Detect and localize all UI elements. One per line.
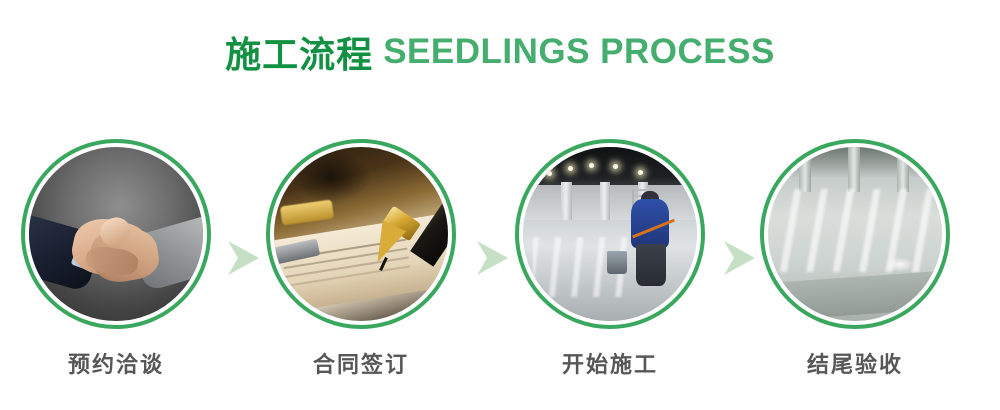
warehouse-wall	[523, 185, 697, 223]
pen-background-blur	[291, 150, 371, 202]
step-2-circle[interactable]	[266, 139, 456, 329]
floor-highlight	[886, 257, 914, 273]
process-step-1[interactable]: 预约洽谈	[21, 139, 211, 376]
arrow-step-2-to-3-icon	[475, 239, 509, 277]
step-4-circle[interactable]	[760, 139, 950, 329]
page-title: 施工流程SEEDLINGS PROCESS	[0, 26, 1000, 78]
process-step-2[interactable]: 合同签订	[266, 139, 456, 376]
step-2-image	[274, 147, 448, 321]
step-1-image	[29, 147, 203, 321]
paint-bucket	[607, 251, 628, 274]
construction-start-icon	[523, 147, 697, 321]
process-step-3[interactable]: 开始施工	[515, 139, 705, 376]
step-2-label: 合同签订	[266, 354, 456, 376]
warehouse-ceiling	[523, 147, 697, 189]
step-3-label: 开始施工	[515, 354, 705, 376]
background-pillar	[897, 147, 909, 192]
step-3-image	[523, 147, 697, 321]
worker-legs	[636, 244, 666, 286]
step-1-circle[interactable]	[21, 139, 211, 329]
contract-document	[274, 212, 448, 316]
page-title-chinese: 施工流程	[225, 34, 373, 75]
arrow-step-1-to-2-icon	[226, 239, 260, 277]
ceiling-lamp	[589, 163, 594, 168]
page-title-english: SEEDLINGS PROCESS	[383, 32, 775, 71]
process-step-4[interactable]: 结尾验收	[760, 139, 950, 376]
step-3-circle[interactable]	[515, 139, 705, 329]
background-pillar	[799, 147, 811, 192]
glossy-floor-reflection	[768, 189, 942, 273]
handshake-icon	[29, 147, 203, 321]
process-steps: 预约洽谈 合同签订	[0, 139, 1000, 389]
step-4-label: 结尾验收	[760, 354, 950, 376]
pen-barrel	[410, 159, 448, 267]
step-1-label: 预约洽谈	[21, 354, 211, 376]
contract-signing-icon	[274, 147, 448, 321]
ceiling-lamp	[638, 170, 643, 175]
arrow-step-3-to-4-icon	[722, 239, 756, 277]
gold-desk-object	[280, 199, 334, 225]
background-pillar	[848, 147, 860, 192]
final-inspection-icon	[768, 147, 942, 321]
step-4-image	[768, 147, 942, 321]
floor-foreground-band	[768, 271, 942, 321]
